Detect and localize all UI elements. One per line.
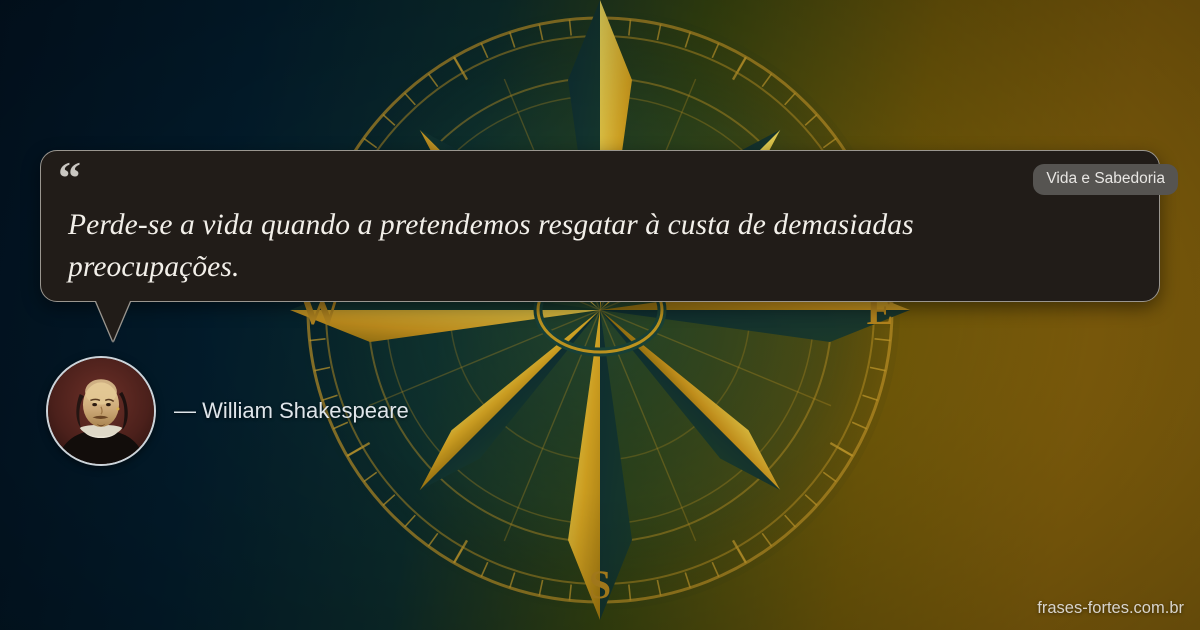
author-name: — William Shakespeare: [174, 398, 409, 424]
author-avatar: [46, 356, 156, 466]
quote-bubble-tail: [96, 301, 130, 341]
author-block: — William Shakespeare: [46, 356, 409, 466]
background-vignette: [0, 0, 1200, 630]
site-watermark: frases-fortes.com.br: [1037, 599, 1184, 618]
category-badge[interactable]: Vida e Sabedoria: [1033, 164, 1178, 195]
open-quote-icon: “: [58, 155, 80, 201]
quote-text: Perde-se a vida quando a pretendemos res…: [68, 204, 1078, 288]
quote-card: X XI XII I II: [0, 0, 1200, 630]
